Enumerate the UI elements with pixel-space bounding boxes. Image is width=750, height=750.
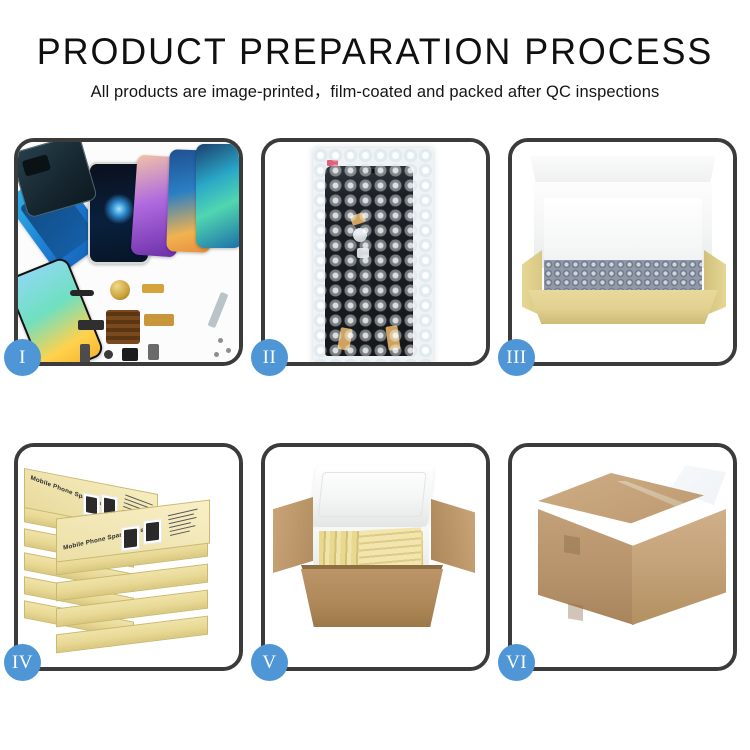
box-front-panel [528,290,718,324]
process-step-1: I [14,138,243,366]
chip-grid-part [106,310,140,344]
step-2-image [265,142,486,362]
screw-icon [214,352,219,357]
step-badge-6: VI [498,644,535,681]
carton-front-panel [301,569,443,627]
box-artwork-phone [121,525,140,551]
box-spec-lines [168,509,200,539]
step-badge-5: V [251,644,288,681]
foam-lid [310,465,435,527]
wireless-coil-part [110,280,130,300]
flex-cable-part-1 [142,284,164,293]
page-subtitle: All products are image-printed，film-coat… [0,81,750,103]
step-4-image: Mobile Phone Spare Parts Mobile Phone Sp… [18,447,239,667]
step-1-image [18,142,239,362]
step-6-image [512,447,733,667]
screw-part [104,350,113,359]
phone-screen-green [196,144,239,248]
speaker-part [122,348,138,361]
repair-tool [208,292,229,328]
battery-part [148,344,159,360]
screw-icon [218,338,223,343]
process-step-2: II [261,138,490,366]
header: PRODUCT PREPARATION PROCESS All products… [0,0,750,103]
process-step-3: III [508,138,737,366]
carton-right-flap [431,499,475,573]
process-step-grid: I II [14,138,736,671]
step-badge-1: I [4,339,41,376]
earpiece-part [70,290,94,296]
process-step-4: Mobile Phone Spare Parts Mobile Phone Sp… [14,443,243,671]
grey-bubble-wrap-layer [544,260,702,292]
step-badge-2: II [251,339,288,376]
page-title: PRODUCT PREPARATION PROCESS [11,30,739,74]
flex-cable-part-3 [78,320,104,330]
box-stack: Mobile Phone Spare Parts Mobile Phone Sp… [18,447,239,667]
step-badge-4: IV [4,644,41,681]
step-badge-3: III [498,339,535,376]
pink-qc-label [327,160,338,166]
carton-left-flap [273,497,313,573]
process-step-6: VI [508,443,737,671]
step-5-image [265,447,486,667]
flex-cable-part-2 [144,314,174,326]
carton-left-face [538,509,634,625]
screw-icon [226,348,231,353]
carton-right-face [632,509,726,625]
process-step-5: V [261,443,490,671]
carton-handle-tab-top [564,535,580,555]
notch [360,169,378,173]
carton-handle-tab-bottom [568,603,583,621]
camera-part [80,344,90,362]
packed-retail-boxes-row2 [359,527,421,570]
step-3-image [512,142,733,362]
product-preparation-infographic: PRODUCT PREPARATION PROCESS All products… [0,0,750,750]
box-artwork-phone [143,518,162,544]
connector-square [357,248,369,258]
connector-round [353,228,367,242]
white-foam-sheet [544,198,702,260]
